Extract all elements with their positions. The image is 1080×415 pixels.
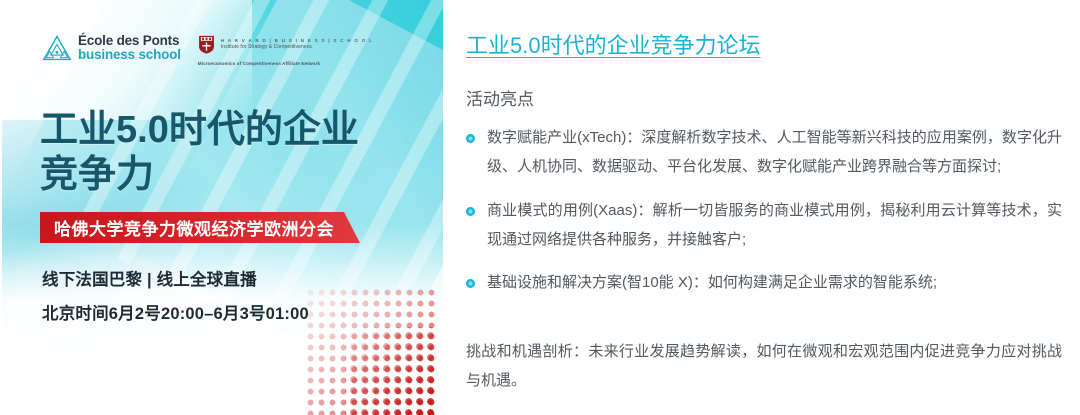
ecole-logo-line-1: École des Ponts: [78, 34, 181, 48]
poster-title-line-1: 工业5.0时代的企业: [40, 108, 430, 153]
event-highlights-list: 数字赋能产业(xTech)：深度解析数字技术、人工智能等新兴科技的应用案例，数字…: [466, 123, 1062, 311]
article-panel: 工业5.0时代的企业竞争力论坛 活动亮点 数字赋能产业(xTech)：深度解析数…: [466, 0, 1062, 415]
poster-red-ribbon: 哈佛大学竞争力微观经济学欧洲分会: [40, 212, 360, 243]
ecole-des-ponts-wordmark: École des Ponts business school: [78, 34, 181, 62]
triangle-logo-icon: [42, 34, 72, 62]
list-item: 数字赋能产业(xTech)：深度解析数字技术、人工智能等新兴科技的应用案例，数字…: [466, 123, 1062, 182]
poster-logo-row: École des Ponts business school: [42, 34, 373, 66]
bullet-dot-icon: [466, 134, 475, 143]
harvard-shield-icon: [198, 35, 215, 54]
poster-title-line-2: 竞争力: [40, 153, 430, 198]
article-subheading: 活动亮点: [466, 85, 534, 110]
poster-red-dot-grid-dense: [345, 327, 435, 415]
bullet-dot-icon: [466, 207, 475, 216]
list-item-text: 数字赋能产业(xTech)：深度解析数字技术、人工智能等新兴科技的应用案例，数字…: [487, 129, 1062, 175]
article-title-link[interactable]: 工业5.0时代的企业竞争力论坛: [466, 28, 761, 60]
harvard-affiliate-network-line: Microeconomics of Competitiveness Affili…: [198, 61, 373, 66]
list-item-text: 基础设施和解决方案(智10能 X)：如何构建满足企业需求的智能系统;: [487, 274, 937, 291]
bullet-dot-icon: [466, 279, 475, 288]
event-poster-image: École des Ponts business school: [2, 0, 443, 415]
poster-datetime-line: 北京时间6月2号20:00–6月3号01:00: [42, 300, 309, 324]
ecole-des-ponts-logo: École des Ponts business school: [42, 34, 181, 62]
list-item: 基础设施和解决方案(智10能 X)：如何构建满足企业需求的智能系统;: [466, 268, 1062, 297]
poster-venue-line: 线下法国巴黎 | 线上全球直播: [42, 266, 257, 290]
harvard-business-school-logo: H A R V A R D | B U S I N E S S | S C H …: [198, 34, 373, 66]
harvard-wordmark-block: H A R V A R D | B U S I N E S S | S C H …: [221, 38, 373, 51]
list-item: 商业模式的用例(Xaas)：解析一切皆服务的商业模式用例，揭秘利用云计算等技术，…: [466, 196, 1062, 255]
list-item-text: 商业模式的用例(Xaas)：解析一切皆服务的商业模式用例，揭秘利用云计算等技术，…: [487, 202, 1062, 248]
poster-title: 工业5.0时代的企业 竞争力: [40, 108, 430, 198]
harvard-institute-subtitle: Institute for Strategy & Competitiveness: [221, 44, 373, 51]
harvard-logo-top-row: H A R V A R D | B U S I N E S S | S C H …: [198, 35, 373, 54]
ecole-logo-line-2: business school: [78, 48, 181, 62]
page-root: École des Ponts business school: [0, 0, 1080, 415]
article-closing-paragraph: 挑战和机遇剖析：未来行业发展趋势解读，如何在微观和宏观范围内促进竞争力应对挑战与…: [466, 337, 1062, 396]
harvard-wordmark: H A R V A R D | B U S I N E S S | S C H …: [221, 38, 373, 44]
